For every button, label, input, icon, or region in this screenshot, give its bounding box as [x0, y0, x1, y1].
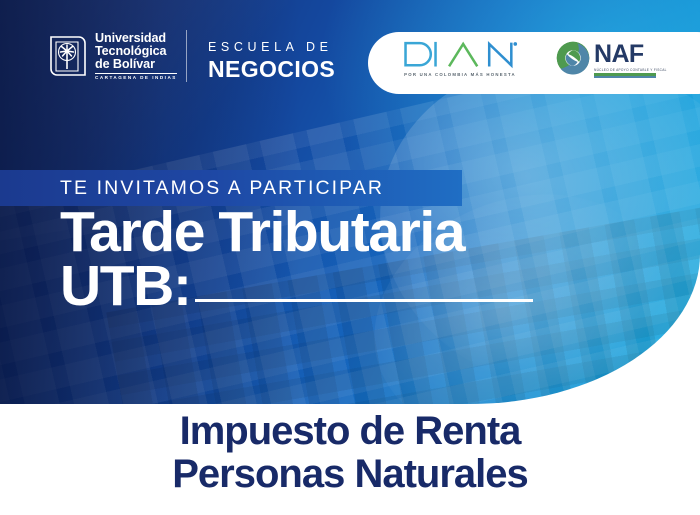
- title-line-2: UTB:: [60, 259, 191, 313]
- dian-logo: POR UNA COLOMBIA MÁS HONESTA: [400, 40, 520, 77]
- dian-tagline: POR UNA COLOMBIA MÁS HONESTA: [400, 72, 520, 77]
- utb-line-3: de Bolívar: [95, 58, 177, 71]
- subtitle-section: Impuesto de Renta Personas Naturales: [0, 404, 700, 515]
- title-line-2-row: UTB:: [60, 259, 533, 313]
- naf-word: NAF: [594, 43, 667, 67]
- title-line-1: Tarde Tributaria: [60, 205, 533, 259]
- utb-line-1: Universidad: [95, 32, 177, 45]
- utb-logo: Universidad Tecnológica de Bolívar CARTA…: [48, 31, 177, 81]
- naf-color-bars: [594, 73, 656, 78]
- utb-subtitle: CARTAGENA DE INDIAS: [95, 76, 177, 81]
- utb-line-2: Tecnológica: [95, 45, 177, 58]
- dian-logo-icon: [400, 40, 520, 70]
- invite-label: TE INVITAMOS A PARTICIPAR: [60, 177, 384, 200]
- utb-wordmark: Universidad Tecnológica de Bolívar CARTA…: [95, 32, 177, 81]
- naf-swirl-icon: [556, 41, 590, 80]
- main-title: Tarde Tributaria UTB:: [60, 205, 533, 313]
- palm-tree-shield-icon: [48, 31, 88, 81]
- naf-logo: NAF NÚCLEO DE APOYO CONTABLE Y FISCAL: [556, 41, 667, 80]
- poster-root: Universidad Tecnológica de Bolívar CARTA…: [0, 0, 700, 515]
- subtitle-line-2: Personas Naturales: [0, 453, 700, 496]
- naf-subtitle: NÚCLEO DE APOYO CONTABLE Y FISCAL: [594, 68, 667, 72]
- logo-separator: [186, 30, 187, 82]
- business-school-logo: ESCUELA DE NEGOCIOS: [208, 40, 335, 83]
- logo-bar: Universidad Tecnológica de Bolívar CARTA…: [0, 0, 700, 110]
- school-line-1: ESCUELA DE: [208, 40, 335, 54]
- school-line-2: NEGOCIOS: [208, 56, 335, 83]
- title-underline-rule: [195, 299, 533, 302]
- subtitle-line-1: Impuesto de Renta: [0, 410, 700, 453]
- naf-wordmark: NAF NÚCLEO DE APOYO CONTABLE Y FISCAL: [594, 43, 667, 78]
- utb-divider-rule: [95, 73, 177, 74]
